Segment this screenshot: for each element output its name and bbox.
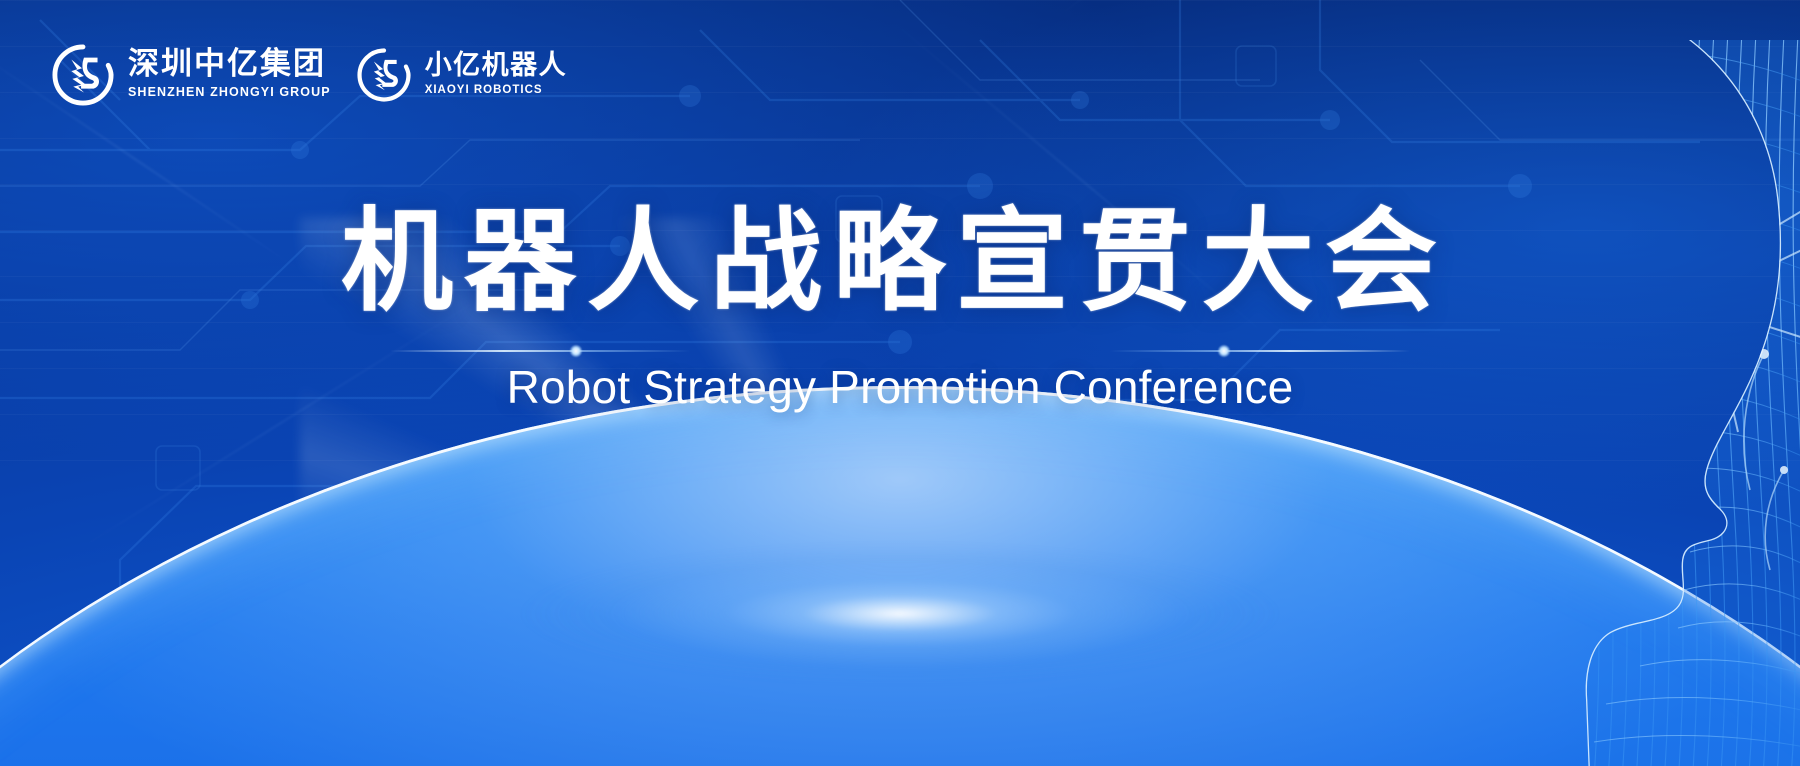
circuit-trace-network (0, 0, 1800, 766)
earth-horizon-glow (0, 386, 1800, 766)
logo-text-group: 小亿机器人 XIAOYI ROBOTICS (425, 51, 568, 99)
glow-divider-right (1110, 345, 1410, 357)
glow-divider-left (390, 345, 690, 357)
glow-dot-icon (1218, 345, 1231, 358)
logo-shenzhen-zhongyi-group[interactable]: 深圳中亿集团 SHENZHEN ZHONGYI GROUP (52, 44, 331, 106)
glow-dot-icon (570, 345, 583, 358)
logo-name-en: XIAOYI ROBOTICS (425, 82, 568, 99)
logo-xiaoyi-robotics[interactable]: 小亿机器人 XIAOYI ROBOTICS (357, 48, 568, 102)
divider-row (0, 345, 1800, 357)
page-subtitle: Robot Strategy Promotion Conference (507, 360, 1294, 414)
sun-rays (300, 218, 1500, 648)
earth-horizon-sunrise (0, 336, 1800, 766)
headline: 机器人战略宣贯大会 (0, 198, 1800, 328)
page-title: 机器人战略宣贯大会 (341, 198, 1459, 328)
light-streaks (0, 0, 1800, 766)
wireframe-human-head-profile (1340, 40, 1800, 766)
logo-bar: 深圳中亿集团 SHENZHEN ZHONGYI GROUP 小亿机器人 XIAO… (52, 44, 567, 106)
logo-name-cn: 深圳中亿集团 (128, 48, 331, 81)
sunrise-halo (410, 286, 1390, 706)
subtitle: Robot Strategy Promotion Conference (0, 360, 1800, 414)
zhongyi-circle-emblem-icon (357, 48, 411, 102)
logo-name-en: SHENZHEN ZHONGYI GROUP (128, 83, 331, 102)
earth-globe (0, 386, 1800, 766)
logo-name-cn: 小亿机器人 (425, 51, 568, 80)
conference-banner: 深圳中亿集团 SHENZHEN ZHONGYI GROUP 小亿机器人 XIAO… (0, 0, 1800, 766)
background-vignette (0, 0, 1800, 766)
logo-text-group: 深圳中亿集团 SHENZHEN ZHONGYI GROUP (128, 48, 331, 102)
zhongyi-circle-emblem-icon (52, 44, 114, 106)
